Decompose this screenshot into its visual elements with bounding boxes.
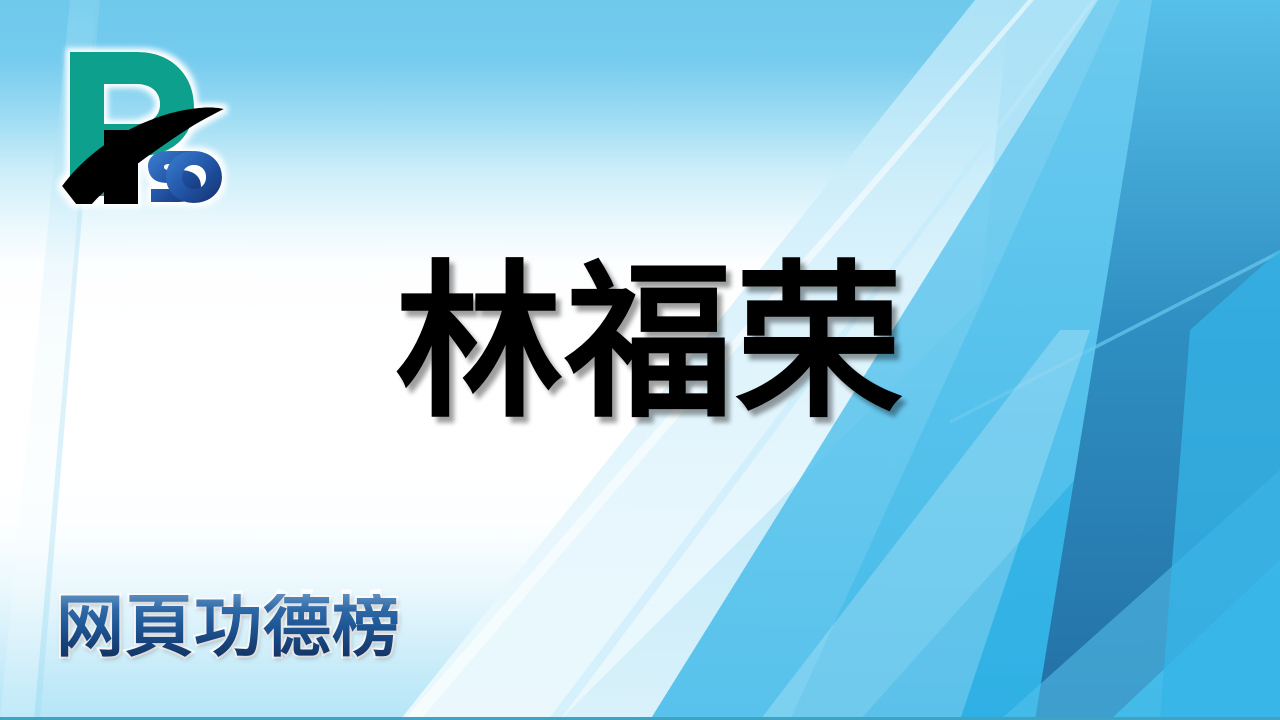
logo-stem: [104, 130, 138, 204]
footer-wordmark: 网頁功德榜: [56, 594, 401, 662]
presentation-slide: 林福荣 网頁功德榜 网頁功德榜: [0, 0, 1280, 720]
pso-logo: [52, 34, 232, 214]
footer-wordmark-wrap: 网頁功德榜 网頁功德榜: [56, 594, 401, 662]
footer-wordmark-container: 网頁功德榜 网頁功德榜: [56, 583, 401, 673]
title-container: 林福荣: [150, 218, 1150, 468]
logo-so-letters: [148, 151, 222, 203]
page-title: 林福荣: [395, 255, 905, 431]
